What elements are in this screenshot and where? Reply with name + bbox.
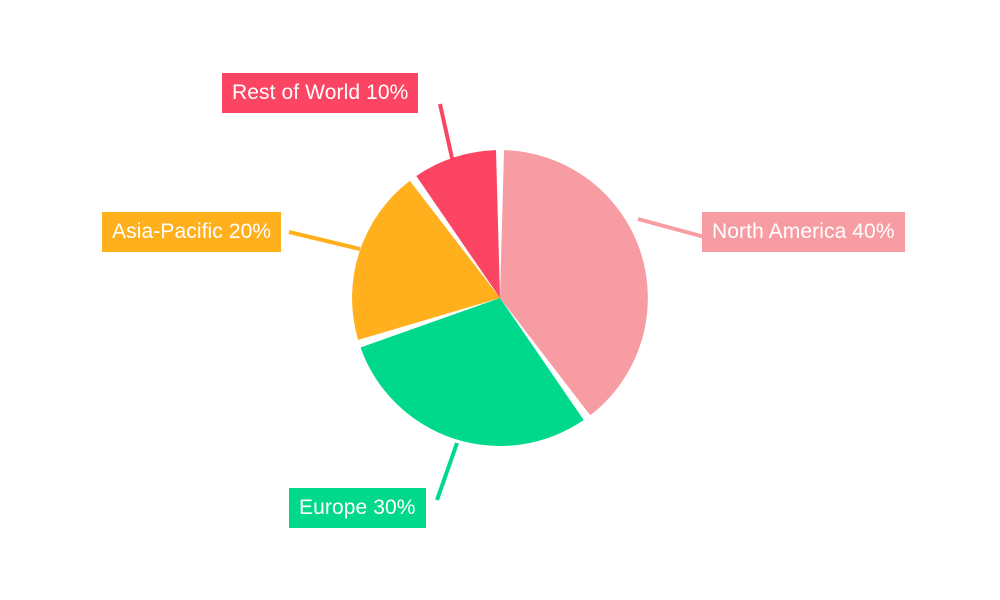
pie-label-rest-of-world: Rest of World 10% [222,73,418,113]
pie-label-europe: Europe 30% [289,488,426,528]
pie-chart-canvas [0,0,1000,600]
leader-line-north-america [638,219,712,239]
leader-line-asia-pacific [289,232,360,249]
pie-label-north-america: North America 40% [702,212,905,252]
pie-label-asia-pacific: Asia-Pacific 20% [102,212,281,252]
leader-line-europe [437,443,457,500]
pie-chart-figure: North America 40% Europe 30% Asia-Pacifi… [0,0,1000,600]
pie-slices [352,150,648,446]
